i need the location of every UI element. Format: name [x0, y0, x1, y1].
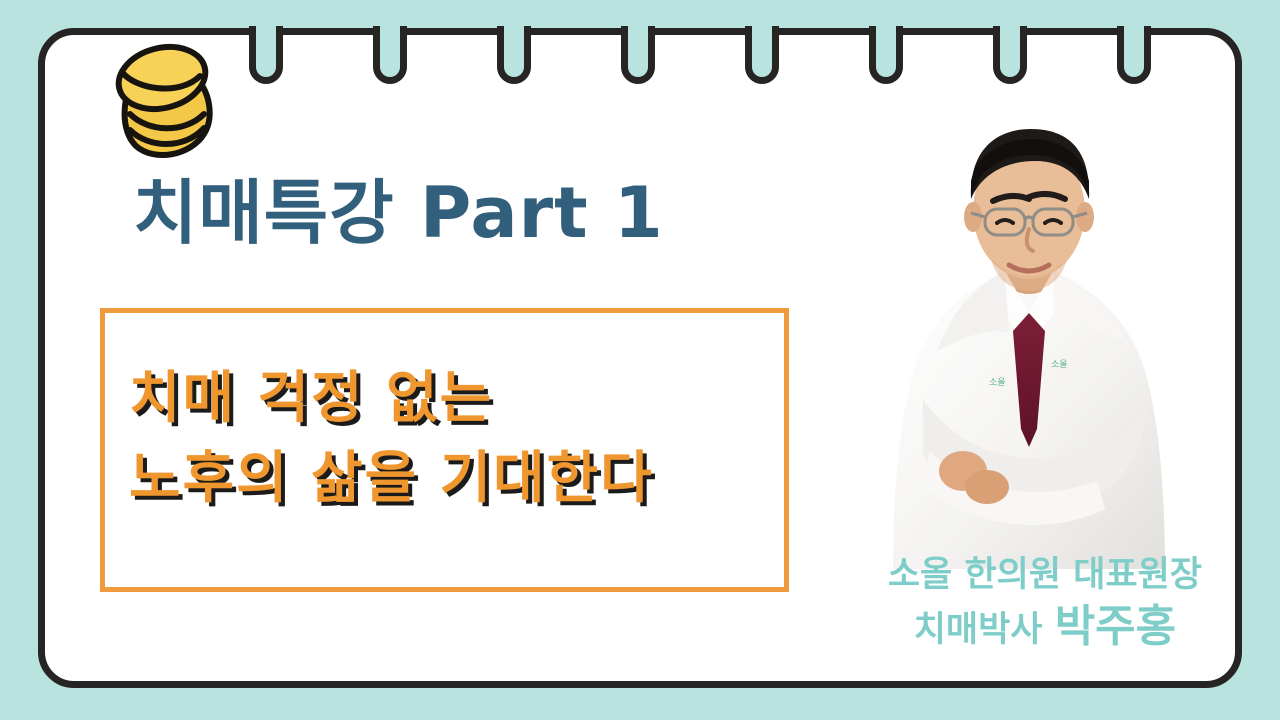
credit-line-1: 소올 한의원 대표원장: [888, 554, 1202, 597]
svg-text:소올: 소올: [989, 377, 1006, 388]
quote-text: 치매 걱정 없는 노후의 삶을 기대한다: [129, 359, 789, 518]
doctor-portrait: 소올 소올: [859, 99, 1199, 569]
page-title: 치매특강 Part 1: [133, 177, 664, 251]
speaker-name: 박주홍: [1055, 601, 1176, 652]
quote-line-1: 치매 걱정 없는: [129, 366, 493, 431]
quote-line-2: 노후의 삶을 기대한다: [129, 446, 654, 511]
speaker-credit: 소올 한의원 대표원장 치매박사 박주홍: [888, 554, 1202, 654]
credit-line-2: 치매박사 박주홍: [888, 600, 1202, 654]
pushpin-icon: [86, 22, 226, 162]
slide-canvas: 치매특강 Part 1 치매 걱정 없는 노후의 삶을 기대한다: [0, 0, 1280, 720]
credit-title: 치매박사: [914, 610, 1055, 650]
svg-text:소올: 소올: [1051, 359, 1068, 370]
